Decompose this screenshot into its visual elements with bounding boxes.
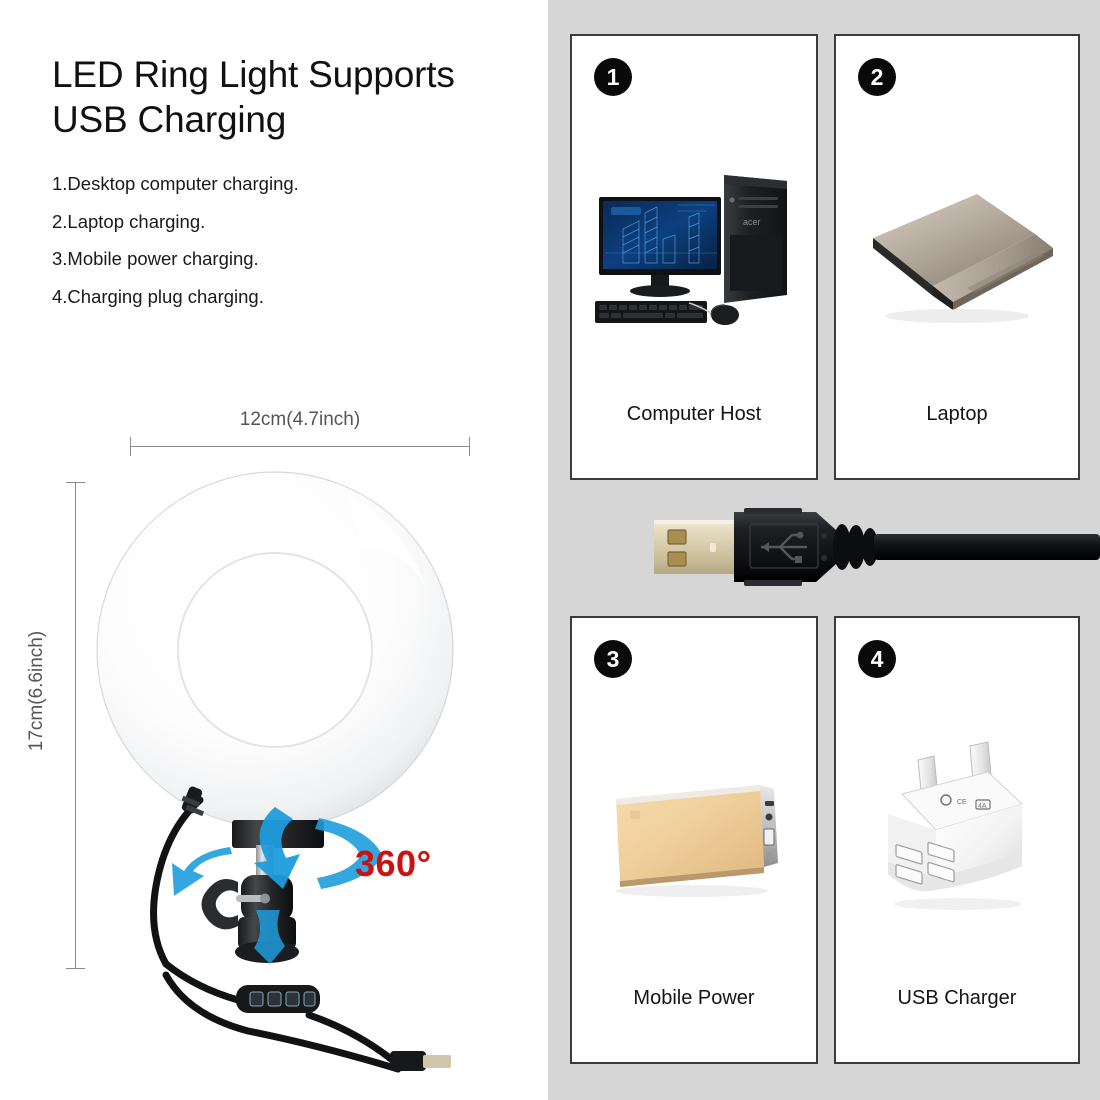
use-case-panel: 1 [548,0,1100,1100]
led-ring [97,472,453,828]
page-title-line-2: USB Charging [52,97,512,142]
usb-wall-charger-icon: CE 4A [836,708,1078,958]
use-case-card-computer-host[interactable]: 1 [570,34,818,480]
laptop-icon [836,126,1078,376]
use-case-card-usb-charger[interactable]: 4 [834,616,1080,1064]
svg-text:CE: CE [957,799,967,806]
width-dimension-line [130,446,470,447]
width-dimension-label: 12cm(4.7inch) [130,409,470,431]
feature-item-3: 3.Mobile power charging. [52,250,492,269]
height-dimension-label: 17cm(6.6inch) [26,611,48,771]
left-info-panel: LED Ring Light Supports USB Charging 1.D… [0,0,548,1100]
inline-controller [236,985,320,1013]
power-bank-icon [572,708,816,958]
feature-item-4: 4.Charging plug charging. [52,288,492,307]
svg-text:acer: acer [743,217,761,227]
card-number-badge: 4 [858,640,896,678]
feature-item-1: 1.Desktop computer charging. [52,175,492,194]
card-number-badge: 2 [858,58,896,96]
card-caption: Laptop [836,403,1078,426]
product-infographic: LED Ring Light Supports USB Charging 1.D… [0,0,1100,1100]
feature-list: 1.Desktop computer charging. 2.Laptop ch… [52,175,492,325]
card-caption: USB Charger [836,987,1078,1010]
cable-usb-end [390,1051,451,1071]
use-case-card-laptop[interactable]: 2 [834,34,1080,480]
card-caption: Computer Host [572,403,816,426]
page-title: LED Ring Light Supports USB Charging [52,52,512,142]
feature-item-2: 2.Laptop charging. [52,213,492,232]
ring-light-illustration [60,455,530,1075]
rotation-degree-label: 360° [355,843,431,885]
svg-text:4A: 4A [978,803,987,810]
desktop-computer-icon: acer [572,126,816,376]
card-caption: Mobile Power [572,987,816,1010]
usb-a-connector-icon [640,496,1100,596]
use-case-card-mobile-power[interactable]: 3 [570,616,818,1064]
card-number-badge: 1 [594,58,632,96]
card-number-badge: 3 [594,640,632,678]
page-title-line-1: LED Ring Light Supports [52,52,512,97]
